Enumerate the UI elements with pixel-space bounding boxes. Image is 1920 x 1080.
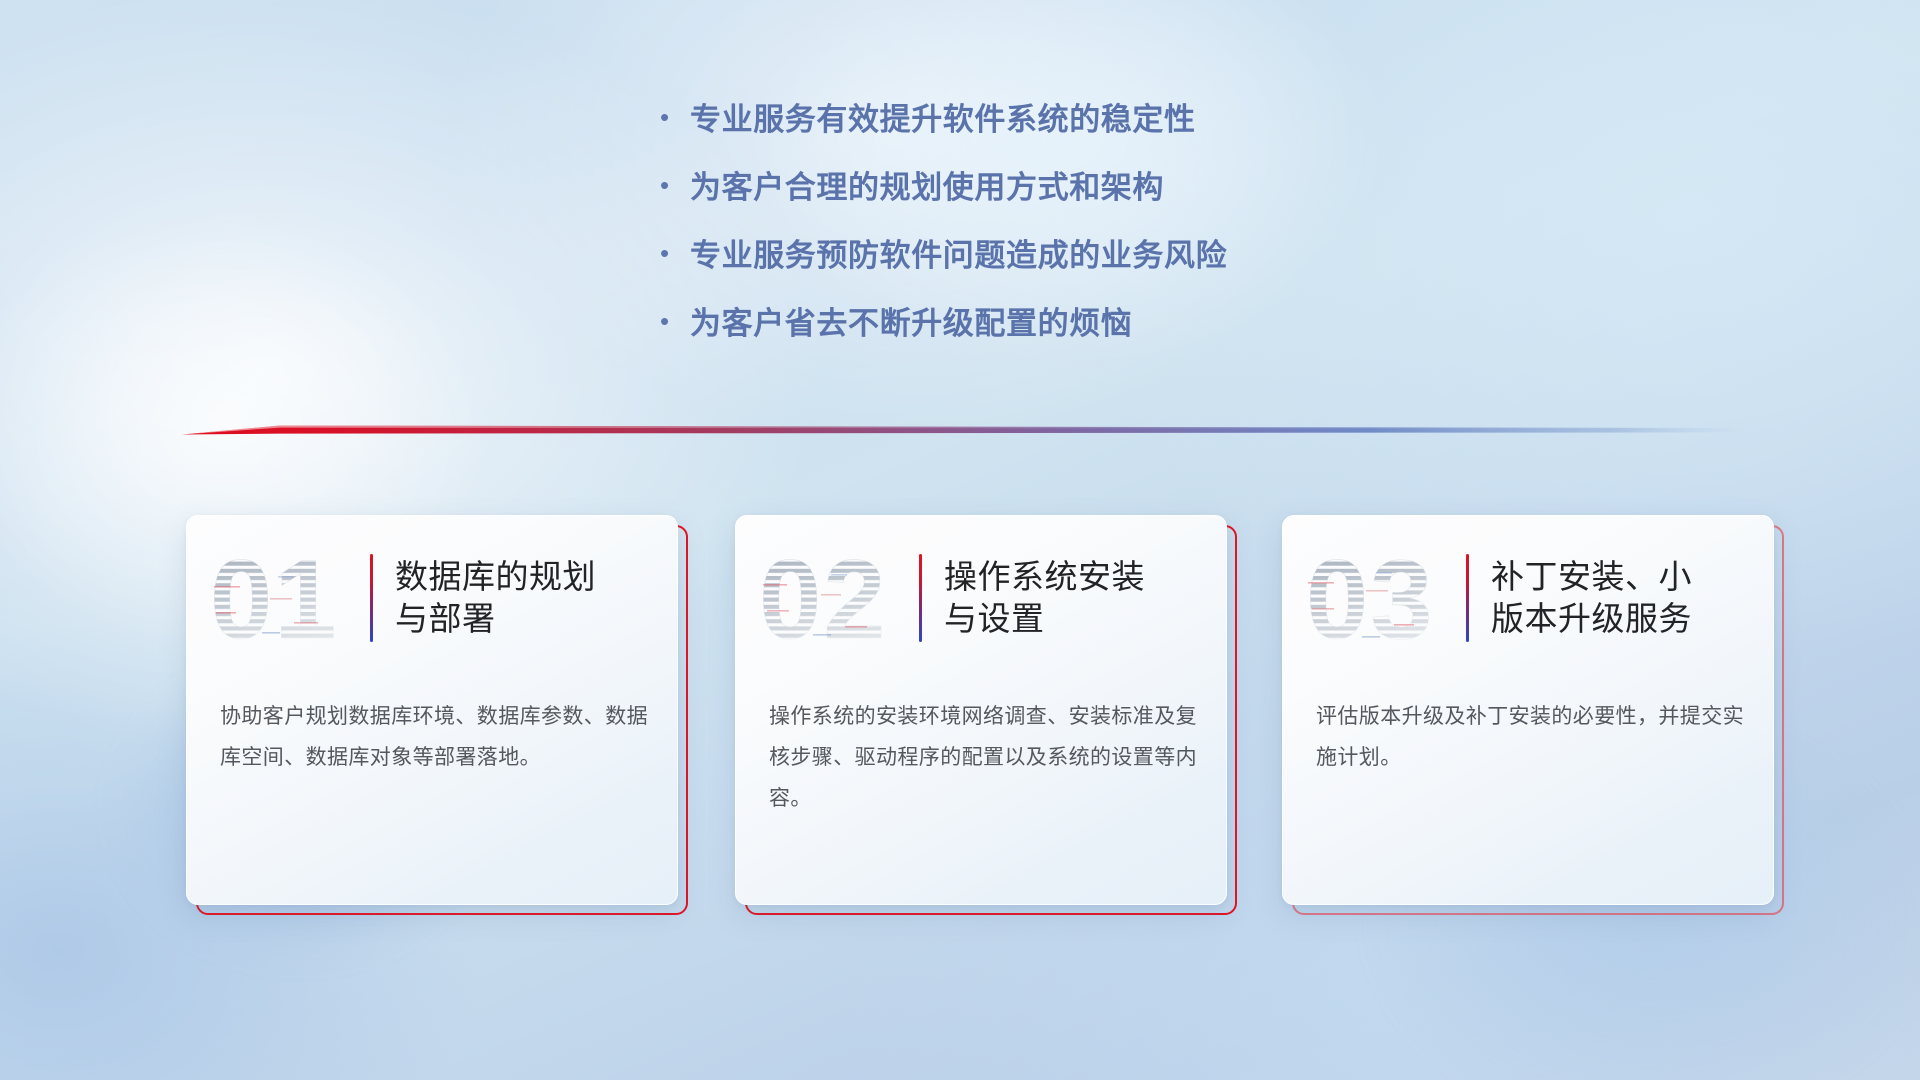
- card-body-text: 协助客户规划数据库环境、数据库参数、数据库空间、数据库对象等部署落地。: [220, 697, 650, 779]
- card-title-line-1: 操作系统安装: [944, 556, 1145, 598]
- card-title: 操作系统安装 与设置: [944, 556, 1145, 639]
- bullet-text: 专业服务预防软件问题造成的业务风险: [690, 238, 1227, 274]
- slide-canvas: • 专业服务有效提升软件系统的稳定性 • 为客户合理的规划使用方式和架构 • 专…: [0, 0, 1920, 1080]
- card-body-text: 操作系统的安装环境网络调查、安装标准及复核步骤、驱动程序的配置以及系统的设置等内…: [769, 697, 1199, 820]
- card-02[interactable]: 02 02: [735, 515, 1227, 905]
- card-title: 数据库的规划 与部署: [395, 556, 596, 639]
- card-row: 01 01: [0, 515, 1920, 935]
- card-title: 补丁安装、小 版本升级服务: [1491, 556, 1692, 639]
- card-01[interactable]: 01 01: [186, 515, 678, 905]
- card-header: 03 03: [1282, 533, 1774, 663]
- card-title-line-1: 补丁安装、小: [1491, 556, 1692, 598]
- list-item: • 为客户合理的规划使用方式和架构: [660, 170, 1560, 206]
- card-title-line-2: 版本升级服务: [1491, 598, 1692, 640]
- card-number-watermark: 01 01: [208, 540, 364, 656]
- card-gradient-bar: [1466, 554, 1469, 642]
- bullet-list: • 专业服务有效提升软件系统的稳定性 • 为客户合理的规划使用方式和架构 • 专…: [660, 102, 1560, 374]
- card-number-watermark: 02 02: [757, 540, 913, 656]
- bullet-text: 为客户合理的规划使用方式和架构: [690, 170, 1164, 206]
- card-03[interactable]: 03 03: [1282, 515, 1774, 905]
- card-header: 01 01: [186, 533, 678, 663]
- bullet-text: 为客户省去不断升级配置的烦恼: [690, 306, 1132, 342]
- card-header: 02 02: [735, 533, 1227, 663]
- card-title-line-2: 与部署: [395, 598, 596, 640]
- bullet-marker-icon: •: [660, 104, 690, 130]
- card-title-line-1: 数据库的规划: [395, 556, 596, 598]
- list-item: • 专业服务预防软件问题造成的业务风险: [660, 238, 1560, 274]
- section-divider: [182, 418, 1742, 444]
- card-gradient-bar: [919, 554, 922, 642]
- card-body-text: 评估版本升级及补丁安装的必要性，并提交实施计划。: [1316, 697, 1746, 779]
- striped-number-icon: 02 02: [757, 540, 913, 656]
- card-surface: 02 02: [735, 515, 1227, 905]
- svg-text:03: 03: [1306, 540, 1435, 656]
- card-gradient-bar: [370, 554, 373, 642]
- bullet-marker-icon: •: [660, 240, 690, 266]
- card-surface: 01 01: [186, 515, 678, 905]
- list-item: • 为客户省去不断升级配置的烦恼: [660, 306, 1560, 342]
- card-surface: 03 03: [1282, 515, 1774, 905]
- divider-wedge-icon: [182, 418, 1742, 444]
- list-item: • 专业服务有效提升软件系统的稳定性: [660, 102, 1560, 138]
- striped-number-icon: 03 03: [1304, 540, 1460, 656]
- bullet-marker-icon: •: [660, 308, 690, 334]
- svg-text:02: 02: [759, 540, 888, 656]
- striped-number-icon: 01 01: [208, 540, 364, 656]
- card-number-watermark: 03 03: [1304, 540, 1460, 656]
- bullet-text: 专业服务有效提升软件系统的稳定性: [690, 102, 1196, 138]
- bullet-marker-icon: •: [660, 172, 690, 198]
- card-title-line-2: 与设置: [944, 598, 1145, 640]
